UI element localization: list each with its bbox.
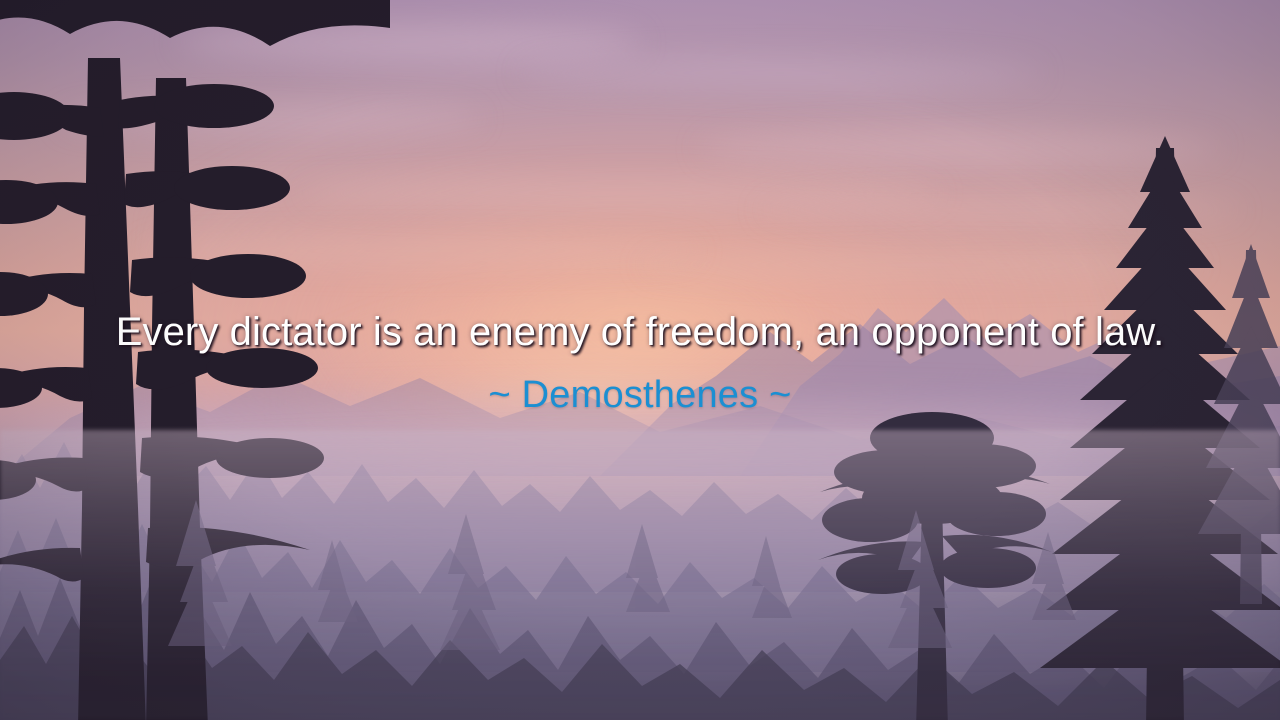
- quote-image-scene: Every dictator is an enemy of freedom, a…: [0, 0, 1280, 720]
- quote-overlay: Every dictator is an enemy of freedom, a…: [0, 306, 1280, 418]
- quote-attribution: ~ Demosthenes ~: [24, 372, 1256, 418]
- quote-text: Every dictator is an enemy of freedom, a…: [24, 306, 1256, 358]
- fog-veil: [0, 430, 1280, 720]
- cloud-streak: [520, 56, 1040, 90]
